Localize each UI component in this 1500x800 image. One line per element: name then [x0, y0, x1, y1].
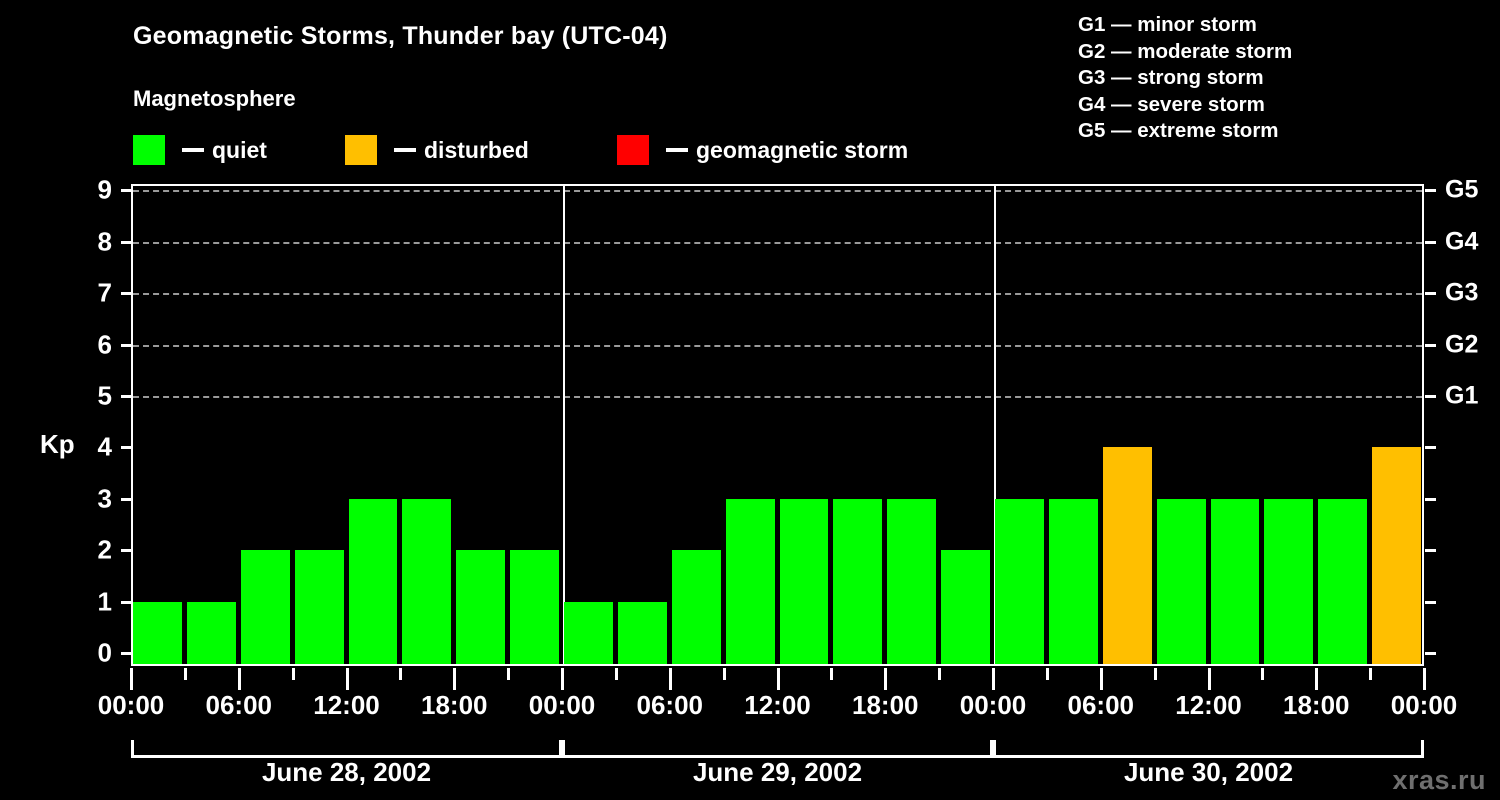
chart-subtitle: Magnetosphere	[133, 86, 296, 112]
legend-swatch-disturbed-icon	[345, 135, 377, 165]
x-tick-4	[346, 668, 349, 690]
x-tick-3	[292, 668, 295, 680]
x-tick-0	[130, 668, 133, 690]
x-tick-5	[399, 668, 402, 680]
y-axis-title: Kp	[40, 429, 75, 460]
legend-swatch-quiet-icon	[133, 135, 165, 165]
chart-root: Geomagnetic Storms, Thunder bay (UTC-04)…	[0, 0, 1500, 800]
bar	[941, 550, 990, 664]
bar	[349, 499, 398, 664]
y-tick-label-2: 2	[88, 535, 112, 566]
x-tick-13	[830, 668, 833, 680]
right-minor-mark-kp-3	[1425, 498, 1436, 501]
legend-label: quiet	[212, 137, 267, 164]
right-minor-mark-kp-1	[1425, 601, 1436, 604]
bar	[510, 550, 559, 664]
legend-label: geomagnetic storm	[696, 137, 908, 164]
right-minor-mark-kp-0	[1425, 652, 1436, 655]
bar	[241, 550, 290, 664]
x-tick-8	[561, 668, 564, 690]
x-tick-20	[1208, 668, 1211, 690]
bar	[1318, 499, 1367, 664]
y-tick-label-9: 9	[88, 175, 112, 206]
x-tick-15	[938, 668, 941, 680]
bar	[295, 550, 344, 664]
gridline-kp-6	[133, 345, 1422, 347]
x-tick-label-9: 06:00	[1068, 690, 1135, 721]
bar	[995, 499, 1044, 664]
x-tick-17	[1046, 668, 1049, 680]
g-tick-mark-G2	[1425, 344, 1436, 347]
g-scale-line-1: G1 — minor storm	[1078, 12, 1292, 39]
g-tick-label-G4: G4	[1445, 227, 1478, 256]
day-label-2: June 29, 2002	[693, 757, 862, 788]
day-bracket-1	[131, 740, 562, 758]
bar	[1372, 447, 1421, 664]
x-tick-label-7: 18:00	[852, 690, 919, 721]
y-tick-label-1: 1	[88, 586, 112, 617]
day-bracket-2	[562, 740, 993, 758]
x-tick-label-8: 00:00	[960, 690, 1027, 721]
gridline-kp-9	[133, 190, 1422, 192]
legend-item-geomagnetic-storm: geomagnetic storm	[617, 133, 908, 167]
bar	[887, 499, 936, 664]
x-tick-12	[777, 668, 780, 690]
right-minor-mark-kp-4	[1425, 446, 1436, 449]
x-tick-19	[1154, 668, 1157, 680]
x-tick-label-4: 00:00	[529, 690, 596, 721]
g-tick-label-G2: G2	[1445, 330, 1478, 359]
legend-item-quiet: quiet	[133, 133, 267, 167]
x-tick-7	[507, 668, 510, 680]
x-tick-label-5: 06:00	[637, 690, 704, 721]
g-scale-line-4: G4 — severe storm	[1078, 92, 1292, 119]
bar	[1049, 499, 1098, 664]
x-tick-2	[238, 668, 241, 690]
y-tick-label-4: 4	[88, 432, 112, 463]
x-tick-16	[992, 668, 995, 690]
bar	[1211, 499, 1260, 664]
x-tick-14	[884, 668, 887, 690]
g-scale-line-3: G3 — strong storm	[1078, 65, 1292, 92]
plot-area	[131, 184, 1424, 666]
g-scale-legend: G1 — minor stormG2 — moderate stormG3 — …	[1078, 12, 1292, 145]
y-tick-label-6: 6	[88, 329, 112, 360]
right-minor-mark-kp-2	[1425, 549, 1436, 552]
x-tick-24	[1423, 668, 1426, 690]
g-tick-label-G3: G3	[1445, 279, 1478, 308]
gridline-kp-5	[133, 396, 1422, 398]
x-tick-label-12: 00:00	[1391, 690, 1458, 721]
bar	[1103, 447, 1152, 664]
x-tick-label-10: 12:00	[1175, 690, 1242, 721]
x-tick-label-0: 00:00	[98, 690, 165, 721]
x-tick-9	[615, 668, 618, 680]
bar	[1264, 499, 1313, 664]
day-label-1: June 28, 2002	[262, 757, 431, 788]
y-tick-label-3: 3	[88, 483, 112, 514]
g-tick-mark-G1	[1425, 395, 1436, 398]
day-bracket-3	[993, 740, 1424, 758]
bar	[133, 602, 182, 664]
legend-dash-icon	[666, 148, 688, 152]
x-tick-23	[1369, 668, 1372, 680]
gridline-kp-7	[133, 293, 1422, 295]
plot-inner	[133, 186, 1422, 664]
bar	[672, 550, 721, 664]
day-label-3: June 30, 2002	[1124, 757, 1293, 788]
x-tick-11	[723, 668, 726, 680]
gridline-kp-8	[133, 242, 1422, 244]
bar	[456, 550, 505, 664]
x-tick-6	[453, 668, 456, 690]
x-tick-label-11: 18:00	[1283, 690, 1350, 721]
x-tick-1	[184, 668, 187, 680]
x-tick-label-3: 18:00	[421, 690, 488, 721]
y-tick-label-8: 8	[88, 226, 112, 257]
x-tick-10	[669, 668, 672, 690]
bar	[1157, 499, 1206, 664]
page-title: Geomagnetic Storms, Thunder bay (UTC-04)	[133, 22, 667, 51]
x-tick-21	[1261, 668, 1264, 680]
legend-item-disturbed: disturbed	[345, 133, 529, 167]
watermark: xras.ru	[1392, 765, 1486, 796]
g-scale-line-5: G5 — extreme storm	[1078, 118, 1292, 145]
g-tick-mark-G4	[1425, 241, 1436, 244]
g-scale-line-2: G2 — moderate storm	[1078, 39, 1292, 66]
g-tick-label-G5: G5	[1445, 176, 1478, 205]
bar	[187, 602, 236, 664]
y-tick-label-5: 5	[88, 381, 112, 412]
legend-dash-icon	[394, 148, 416, 152]
bar	[564, 602, 613, 664]
legend-swatch-geomagnetic-storm-icon	[617, 135, 649, 165]
y-tick-label-7: 7	[88, 278, 112, 309]
bar	[726, 499, 775, 664]
g-tick-mark-G5	[1425, 189, 1436, 192]
day-separator-1	[563, 186, 565, 664]
g-tick-mark-G3	[1425, 292, 1436, 295]
bar	[780, 499, 829, 664]
bar	[402, 499, 451, 664]
bar	[618, 602, 667, 664]
legend-label: disturbed	[424, 137, 529, 164]
g-tick-label-G1: G1	[1445, 382, 1478, 411]
x-tick-label-6: 12:00	[744, 690, 811, 721]
x-tick-18	[1100, 668, 1103, 690]
x-tick-label-2: 12:00	[313, 690, 380, 721]
x-tick-label-1: 06:00	[206, 690, 273, 721]
x-tick-22	[1315, 668, 1318, 690]
y-tick-label-0: 0	[88, 638, 112, 669]
legend-dash-icon	[182, 148, 204, 152]
bar	[833, 499, 882, 664]
